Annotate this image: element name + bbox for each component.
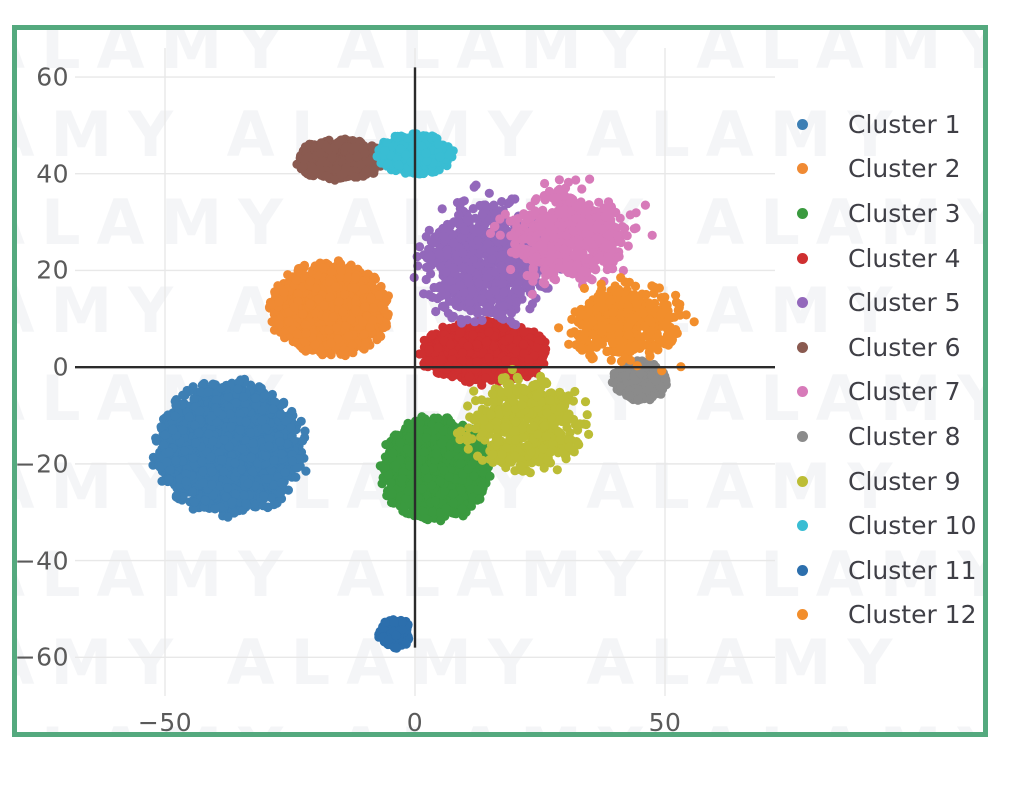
legend-item[interactable]: Cluster 9: [779, 459, 983, 504]
legend-item[interactable]: Cluster 1: [779, 102, 983, 147]
legend-marker-icon: [797, 520, 808, 531]
axis-lines-layer: [75, 48, 775, 696]
legend-item-label: Cluster 8: [848, 422, 961, 451]
legend-item-label: Cluster 5: [848, 288, 961, 317]
figure-inner: ALAMY ALAMY ALAMYALAMY ALAMY ALAMYALAMY …: [17, 30, 983, 732]
legend-item-label: Cluster 12: [848, 600, 977, 629]
legend-marker-icon: [797, 119, 808, 130]
y-tick-label: 20: [36, 256, 69, 285]
legend-marker-icon: [797, 163, 808, 174]
legend-item[interactable]: Cluster 10: [779, 503, 983, 548]
legend-marker-icon: [797, 565, 808, 576]
legend-marker-icon: [797, 253, 808, 264]
legend-item-label: Cluster 11: [848, 556, 977, 585]
legend-marker-icon: [797, 297, 808, 308]
legend-item[interactable]: Cluster 2: [779, 147, 983, 192]
legend-item[interactable]: Cluster 7: [779, 370, 983, 415]
x-tick-label: −50: [138, 708, 192, 732]
y-tick-label: 60: [36, 63, 69, 92]
x-axis-tick-labels: −50050: [75, 708, 775, 732]
legend-item[interactable]: Cluster 6: [779, 325, 983, 370]
legend-item[interactable]: Cluster 8: [779, 414, 983, 459]
legend-item[interactable]: Cluster 12: [779, 593, 983, 638]
legend: Cluster 1Cluster 2Cluster 3Cluster 4Clus…: [779, 102, 983, 637]
legend-item-label: Cluster 4: [848, 244, 961, 273]
legend-item[interactable]: Cluster 5: [779, 280, 983, 325]
y-tick-label: 0: [53, 353, 69, 382]
legend-marker-icon: [797, 431, 808, 442]
y-axis-tick-labels: −60−40−200204060: [17, 48, 69, 696]
y-tick-label: −20: [17, 449, 69, 478]
legend-item-label: Cluster 9: [848, 467, 961, 496]
plot-canvas-wrap: [75, 48, 775, 696]
legend-item[interactable]: Cluster 11: [779, 548, 983, 593]
legend-marker-icon: [797, 342, 808, 353]
legend-item-label: Cluster 10: [848, 511, 977, 540]
legend-item-label: Cluster 7: [848, 377, 961, 406]
scatter-plot-area: [75, 48, 775, 696]
legend-item-label: Cluster 2: [848, 154, 961, 183]
x-tick-label: 0: [407, 708, 423, 732]
legend-marker-icon: [797, 476, 808, 487]
legend-marker-icon: [797, 609, 808, 620]
legend-item-label: Cluster 6: [848, 333, 961, 362]
x-tick-label: 50: [649, 708, 682, 732]
legend-marker-icon: [797, 208, 808, 219]
legend-marker-icon: [797, 386, 808, 397]
legend-item[interactable]: Cluster 3: [779, 191, 983, 236]
y-tick-label: 40: [36, 159, 69, 188]
legend-item[interactable]: Cluster 4: [779, 236, 983, 281]
legend-item-label: Cluster 3: [848, 199, 961, 228]
y-tick-label: −60: [17, 643, 69, 672]
figure-frame: ALAMY ALAMY ALAMYALAMY ALAMY ALAMYALAMY …: [12, 25, 988, 737]
legend-item-label: Cluster 1: [848, 110, 961, 139]
y-tick-label: −40: [17, 546, 69, 575]
